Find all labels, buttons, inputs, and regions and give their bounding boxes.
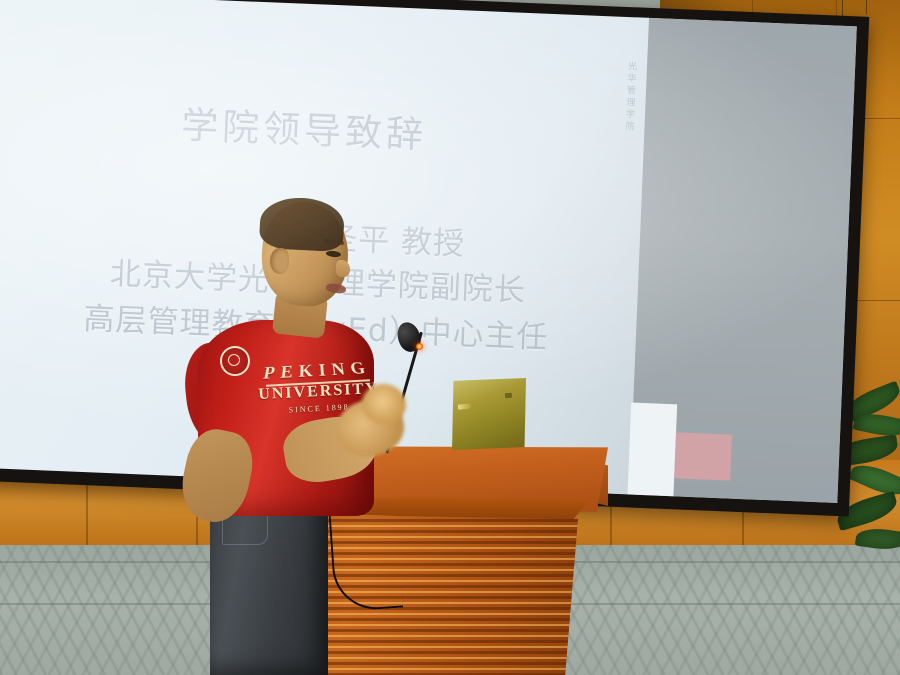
photo-scene: 光华管理学院 学院领导致辞 张圣平 教授 北京大学光华管理学院副院长 高层管理教… bbox=[0, 0, 900, 675]
speaker-nose bbox=[336, 260, 350, 277]
guanghua-logo-chinese: 光华管理学院 bbox=[60, 502, 169, 503]
slide-content: 学院领导致辞 张圣平 教授 北京大学光华管理学院副院长 高层管理教育（ExEd）… bbox=[0, 0, 857, 503]
trouser-pocket bbox=[222, 514, 268, 545]
laptop-logo bbox=[505, 393, 512, 399]
speaker-person: PEKING UNIVERSITY SINCE 1898 bbox=[176, 196, 426, 675]
guanghua-logo: 光华管理学院 Guanghua School of Management bbox=[26, 499, 169, 503]
laptop-lid bbox=[452, 378, 526, 450]
guanghua-seal-icon bbox=[26, 499, 54, 503]
slide-title: 学院领导致辞 bbox=[0, 86, 635, 167]
sleeve-badge-icon bbox=[220, 346, 250, 376]
speaker-ear bbox=[270, 248, 289, 274]
ceiling-wire bbox=[866, 0, 867, 14]
screen-frame: 光华管理学院 学院领导致辞 张圣平 教授 北京大学光华管理学院副院长 高层管理教… bbox=[0, 0, 869, 516]
screen-surface: 光华管理学院 学院领导致辞 张圣平 教授 北京大学光华管理学院副院长 高层管理教… bbox=[0, 0, 857, 503]
